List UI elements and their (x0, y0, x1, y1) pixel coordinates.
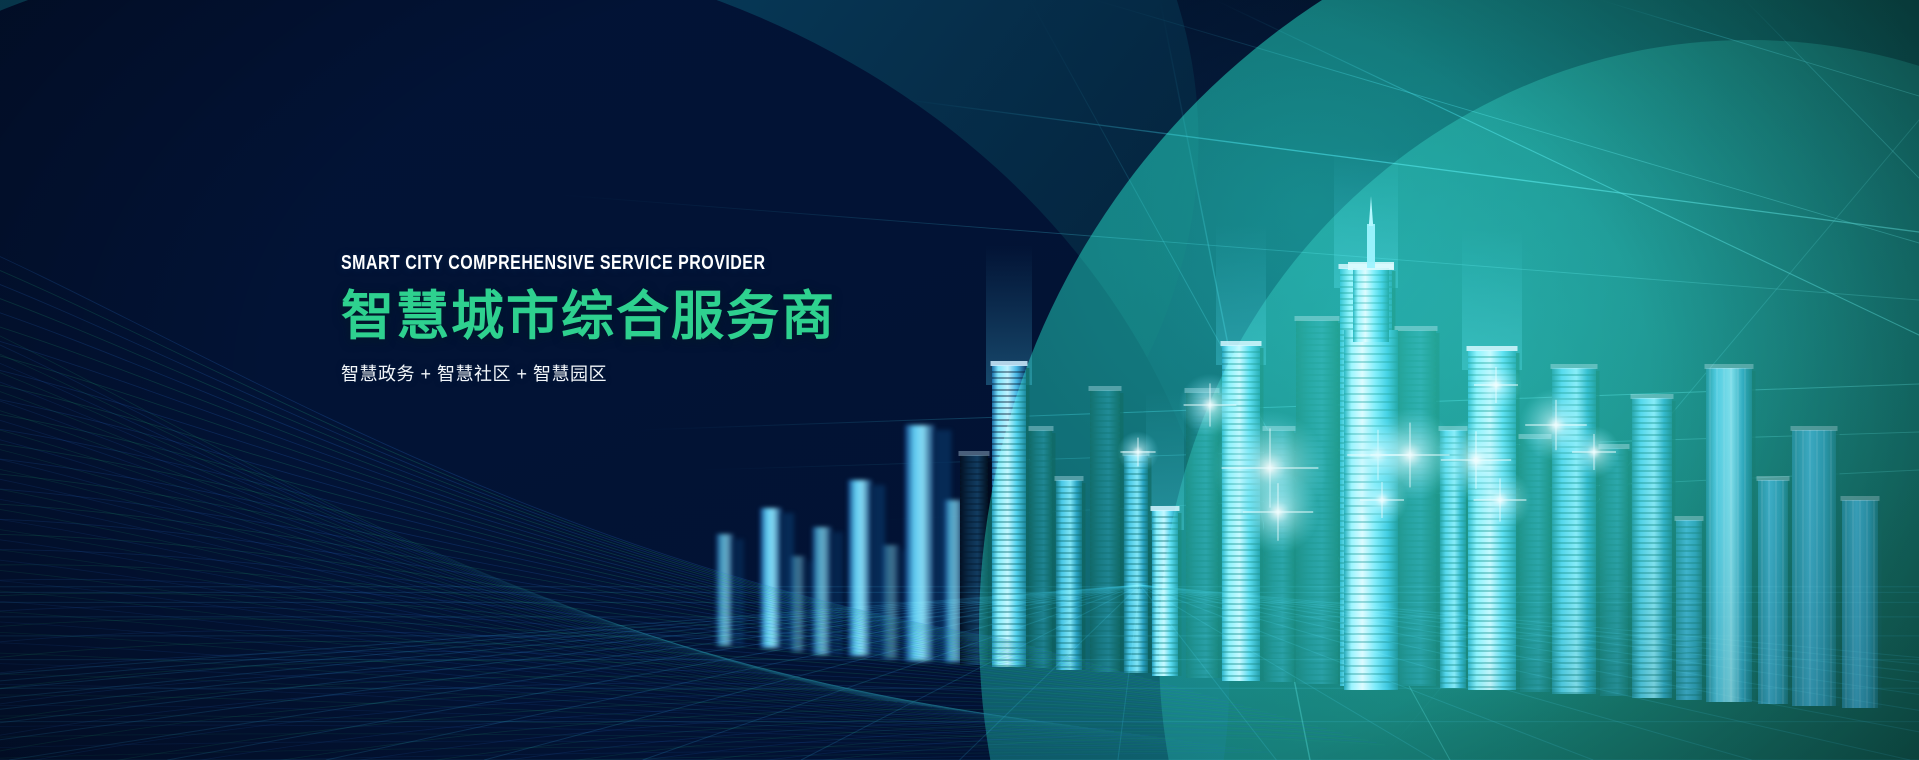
hero-subline-services: 智慧政务 + 智慧社区 + 智慧园区 (341, 360, 1101, 386)
hero-text-block: SMART CITY COMPREHENSIVE SERVICE PROVIDE… (341, 252, 1101, 386)
hero-eyebrow-english: SMART CITY COMPREHENSIVE SERVICE PROVIDE… (341, 252, 949, 275)
smart-city-hero-banner: SMART CITY COMPREHENSIVE SERVICE PROVIDE… (0, 0, 1919, 760)
hero-headline-chinese: 智慧城市综合服务商 (341, 289, 1101, 344)
